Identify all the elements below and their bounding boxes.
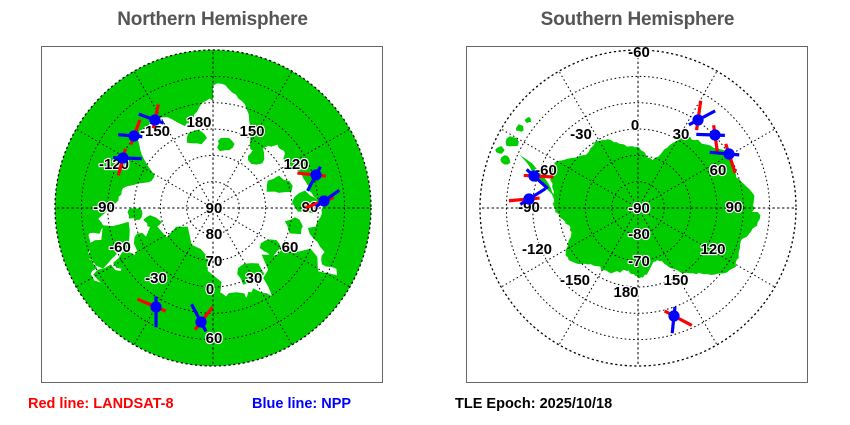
landmass — [500, 155, 510, 164]
landmass — [321, 252, 342, 270]
northern-polar-map: 1801501209060300-30-60-90-120-1509080706… — [42, 47, 382, 382]
landmass — [143, 215, 162, 229]
grid-label: 150 — [239, 123, 264, 140]
satellite-dot[interactable] — [523, 193, 534, 204]
satellite-dot[interactable] — [150, 301, 161, 312]
satellite-dot[interactable] — [149, 114, 160, 125]
satellite-dot[interactable] — [195, 316, 206, 327]
satellite-dot[interactable] — [709, 129, 720, 140]
satellite-dot[interactable] — [117, 152, 128, 163]
southern-hemisphere-plot[interactable]: 0306090120150180-150-120-90-60-30-90-80-… — [466, 46, 808, 383]
grid-label: -90 — [628, 200, 650, 217]
landmass — [285, 217, 303, 234]
grid-label: 120 — [700, 241, 725, 258]
grid-label: 30 — [673, 126, 690, 143]
landmass — [248, 148, 264, 165]
grid-label: 0 — [206, 281, 214, 298]
grid-label: -30 — [145, 270, 167, 287]
satellite-dot[interactable] — [310, 169, 321, 180]
grid-label: 70 — [206, 253, 223, 270]
northern-hemisphere-title: Northern Hemisphere — [0, 9, 425, 31]
satellite-dot[interactable] — [528, 170, 539, 181]
southern-polar-map: 0306090120150180-150-120-90-60-30-90-80-… — [467, 47, 807, 382]
legend-npp: Blue line: NPP — [252, 396, 351, 412]
grid-label: -60 — [109, 239, 131, 256]
grid-label: -80 — [628, 226, 650, 243]
satellite-dot[interactable] — [318, 195, 329, 206]
grid-label: 60 — [710, 162, 727, 179]
southern-hemisphere-title: Southern Hemisphere — [425, 9, 850, 31]
grid-label: -30 — [570, 126, 592, 143]
satellite-marker[interactable] — [509, 189, 546, 205]
grid-label: -120 — [522, 241, 552, 258]
grid-label: 80 — [206, 226, 223, 243]
grid-label: -70 — [628, 253, 650, 270]
grid-label: -90 — [93, 199, 115, 216]
grid-label: 0 — [631, 117, 639, 134]
grid-label: 180 — [186, 114, 211, 131]
grid-label: 60 — [206, 330, 223, 347]
grid-label: 120 — [283, 156, 308, 173]
grid-label: 180 — [613, 284, 638, 301]
landmass — [187, 130, 207, 145]
grid-label: 150 — [663, 272, 688, 289]
landmass — [128, 208, 143, 220]
landmass — [217, 138, 235, 151]
satellite-marker[interactable] — [689, 101, 715, 130]
landmass — [516, 124, 524, 131]
northern-hemisphere-plot[interactable]: 1801501209060300-30-60-90-120-1509080706… — [41, 46, 383, 383]
grid-label: -60 — [628, 47, 650, 61]
grid-label: 90 — [206, 200, 223, 217]
satellite-dot[interactable] — [723, 148, 734, 159]
tle-epoch-label: TLE Epoch: 2025/10/18 — [455, 396, 612, 412]
grid-label: 30 — [246, 270, 263, 287]
grid-label: 60 — [282, 239, 299, 256]
southern-hemisphere-panel: Southern Hemisphere 0306090120150180-150… — [425, 0, 850, 425]
grid-label: 90 — [726, 199, 743, 216]
satellite-dot[interactable] — [692, 114, 703, 125]
northern-hemisphere-panel: Northern Hemisphere 1801501209060300-30-… — [0, 0, 425, 425]
legend-landsat8: Red line: LANDSAT-8 — [28, 396, 174, 412]
satellite-marker[interactable] — [665, 307, 692, 333]
grid-label: -150 — [560, 272, 590, 289]
satellite-dot[interactable] — [128, 130, 139, 141]
satellite-dot[interactable] — [668, 310, 679, 321]
landmass — [525, 117, 532, 123]
landmass — [495, 146, 504, 154]
